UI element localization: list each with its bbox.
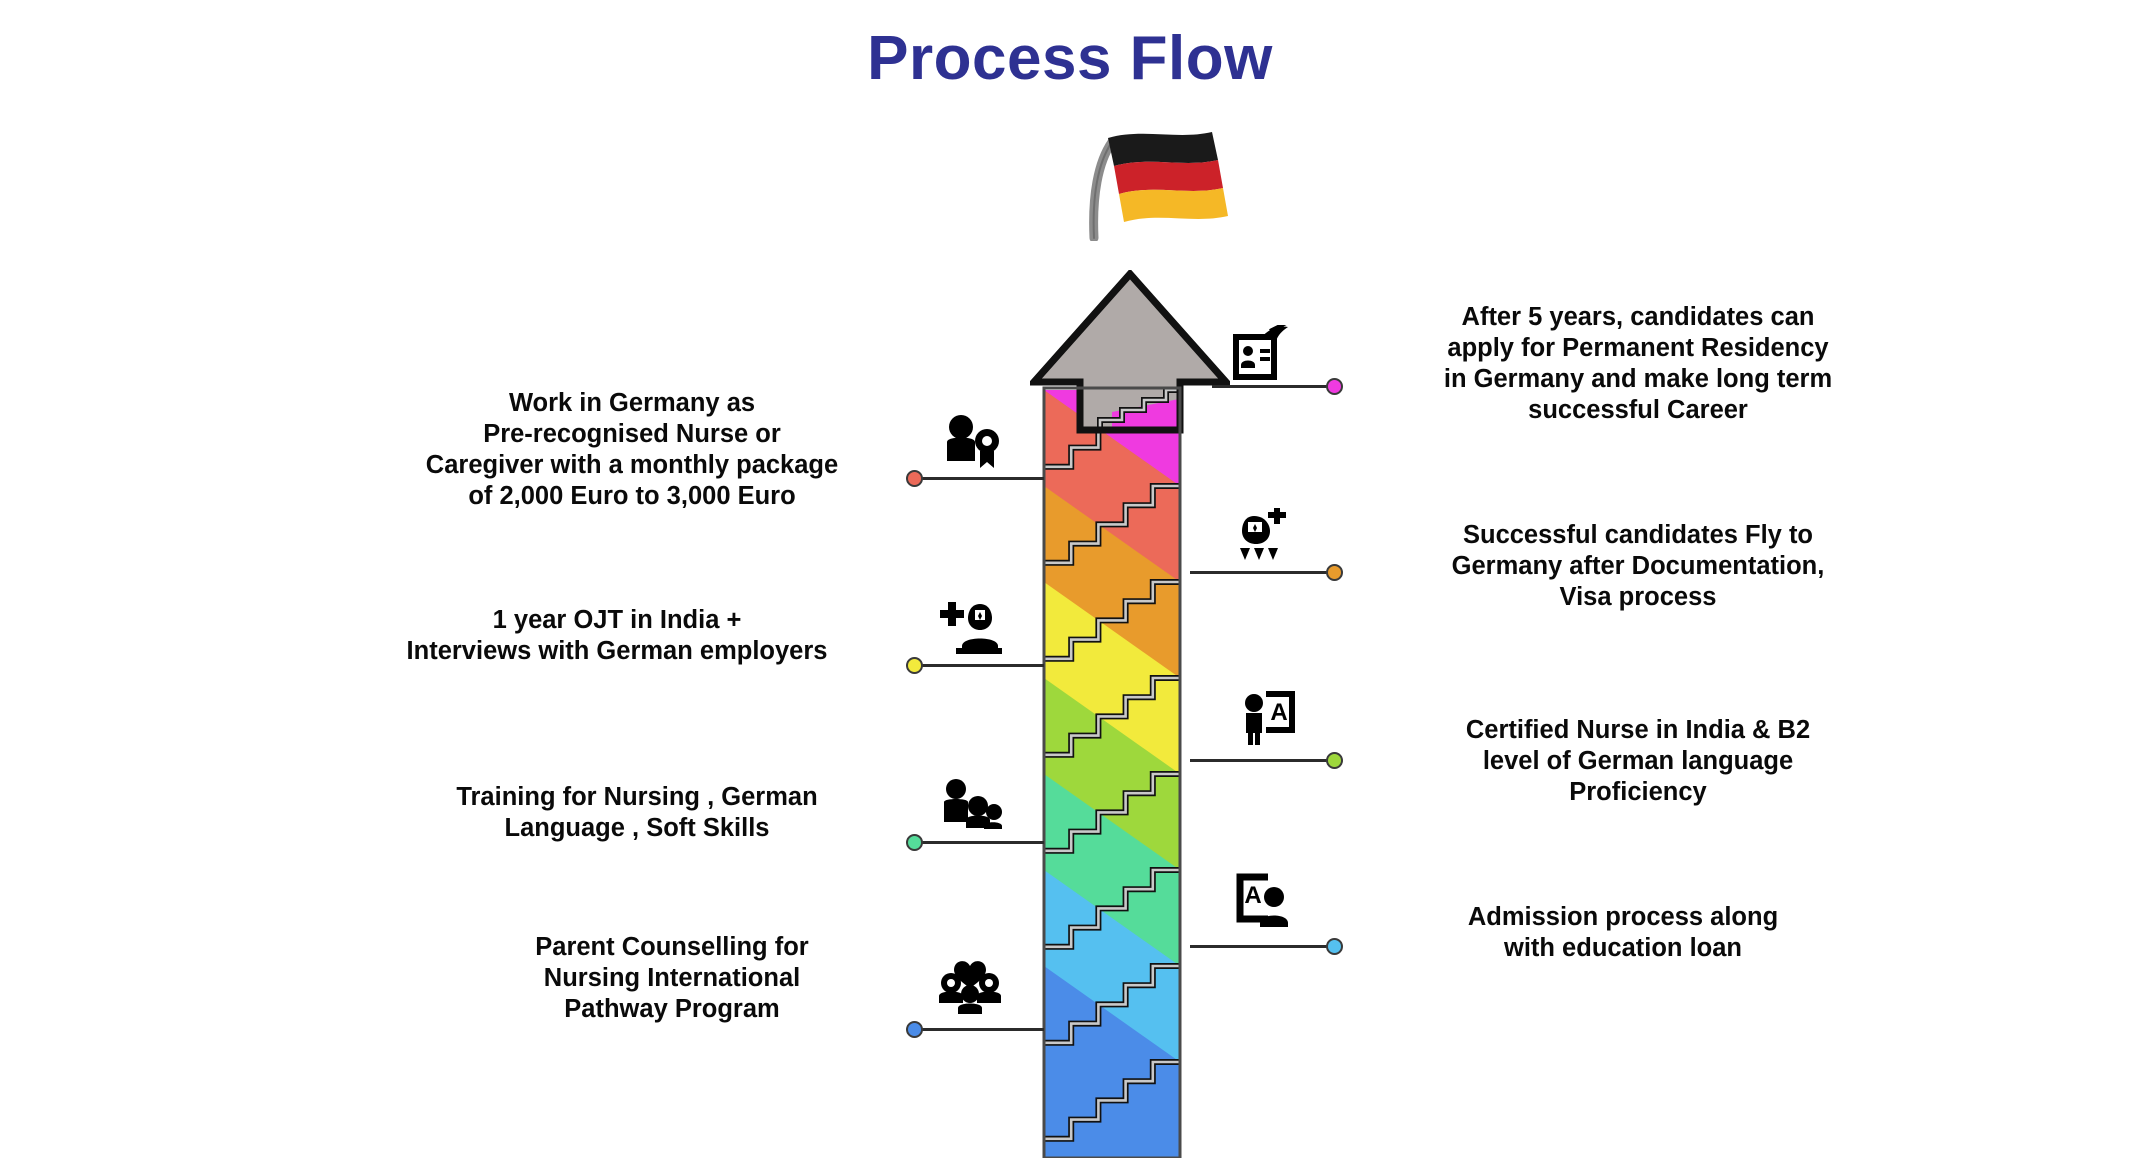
connector-left-2 xyxy=(916,664,1044,667)
connector-right-2 xyxy=(1190,571,1334,574)
dot-right-3 xyxy=(1326,752,1343,769)
left-step-3-text: Training for Nursing , German Language ,… xyxy=(382,782,892,844)
right-step-2-text: Successful candidates Fly to Germany aft… xyxy=(1368,520,1908,613)
right-step-1-text: After 5 years, candidates can apply for … xyxy=(1358,302,1918,426)
nurse-plus-icon xyxy=(936,598,1002,654)
infographic-canvas: Process Flow xyxy=(0,0,2140,1158)
staircase-arrow-graphic xyxy=(1030,270,1230,1158)
connector-right-3 xyxy=(1190,759,1334,762)
right-step-4-text: Admission process along with education l… xyxy=(1368,902,1878,964)
card-person-icon: A xyxy=(1234,873,1294,929)
flag-band-gold xyxy=(1119,188,1228,222)
connector-left-4 xyxy=(916,1028,1044,1031)
dot-left-1 xyxy=(906,470,923,487)
dot-left-2 xyxy=(906,657,923,674)
right-step-3-text: Certified Nurse in India & B2 level of G… xyxy=(1368,715,1908,808)
left-step-1-text: Work in Germany as Pre-recognised Nurse … xyxy=(372,388,892,512)
flag-band-red xyxy=(1114,160,1223,194)
family-heart-icon xyxy=(936,958,1004,1016)
german-flag xyxy=(1082,126,1252,236)
person-award-icon xyxy=(940,413,1002,469)
id-card-hand-icon xyxy=(1230,325,1292,381)
training-people-icon xyxy=(936,778,1002,830)
flag-band-black xyxy=(1108,132,1218,166)
dot-left-4 xyxy=(906,1021,923,1038)
connector-left-3 xyxy=(916,841,1044,844)
connector-right-4 xyxy=(1190,945,1334,948)
connector-left-1 xyxy=(916,477,1044,480)
left-step-4-text: Parent Counselling for Nursing Internati… xyxy=(452,932,892,1025)
dot-right-2 xyxy=(1326,564,1343,581)
svg-text:A: A xyxy=(1244,882,1261,909)
left-step-2-text: 1 year OJT in India + Interviews with Ge… xyxy=(342,605,892,667)
dot-right-1 xyxy=(1326,378,1343,395)
svg-text:A: A xyxy=(1270,699,1287,726)
connector-right-1 xyxy=(1212,385,1334,388)
person-language-card-icon: A xyxy=(1238,690,1296,746)
nurse-plus-head-icon xyxy=(1234,508,1290,564)
dot-right-4 xyxy=(1326,938,1343,955)
dot-left-3 xyxy=(906,834,923,851)
page-title: Process Flow xyxy=(0,26,2140,91)
